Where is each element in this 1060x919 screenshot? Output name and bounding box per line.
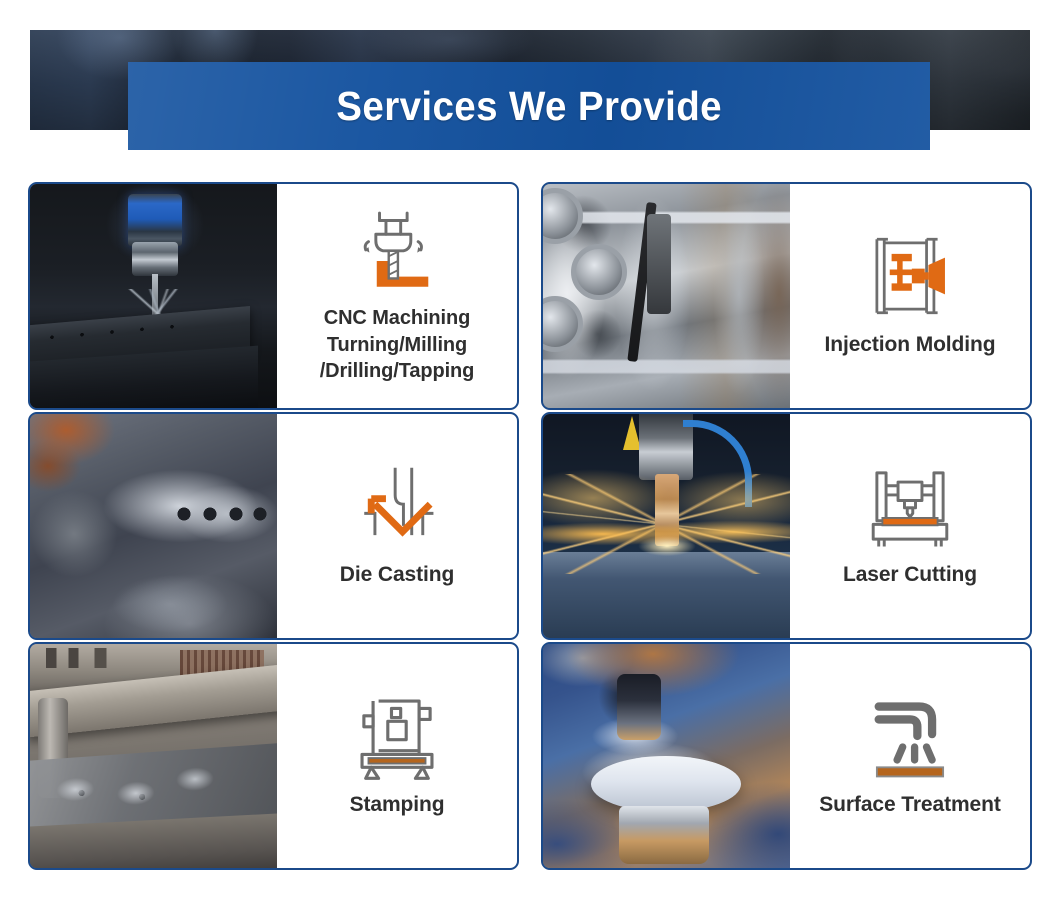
service-label-die-casting: Die Casting bbox=[340, 562, 454, 589]
service-photo-cnc-machining bbox=[30, 184, 277, 408]
service-card-surface-treatment[interactable]: Surface Treatment bbox=[541, 642, 1032, 870]
service-card-injection-molding[interactable]: Injection Molding bbox=[541, 182, 1032, 410]
service-card-die-casting[interactable]: Die Casting bbox=[28, 412, 519, 640]
service-card-cnc-machining[interactable]: CNC Machining Turning/Milling /Drilling/… bbox=[28, 182, 519, 410]
injection-mold-icon bbox=[864, 230, 956, 322]
service-label-surface-treatment: Surface Treatment bbox=[819, 792, 1001, 819]
service-photo-laser-cutting bbox=[543, 414, 790, 638]
service-photo-injection-molding bbox=[543, 184, 790, 408]
service-body-injection-molding: Injection Molding bbox=[790, 184, 1030, 408]
header-title-bar: Services We Provide bbox=[128, 62, 930, 150]
service-label-injection-molding: Injection Molding bbox=[825, 332, 996, 359]
die-casting-icon bbox=[351, 460, 443, 552]
service-body-laser-cutting: Laser Cutting bbox=[790, 414, 1030, 638]
page-header: Services We Provide bbox=[0, 0, 1060, 172]
service-card-laser-cutting[interactable]: Laser Cutting bbox=[541, 412, 1032, 640]
laser-cutting-machine-icon bbox=[864, 460, 956, 552]
service-body-stamping: Stamping bbox=[277, 644, 517, 868]
stamping-press-icon bbox=[351, 690, 443, 782]
service-label-cnc-machining: CNC Machining Turning/Milling /Drilling/… bbox=[320, 305, 475, 384]
service-photo-stamping bbox=[30, 644, 277, 868]
cnc-drill-icon bbox=[351, 203, 443, 295]
service-body-surface-treatment: Surface Treatment bbox=[790, 644, 1030, 868]
service-card-stamping[interactable]: Stamping bbox=[28, 642, 519, 870]
service-body-cnc-machining: CNC Machining Turning/Milling /Drilling/… bbox=[277, 184, 517, 408]
page-title: Services We Provide bbox=[336, 83, 722, 130]
service-label-laser-cutting: Laser Cutting bbox=[843, 562, 977, 589]
service-photo-surface-treatment bbox=[543, 644, 790, 868]
service-label-stamping: Stamping bbox=[350, 792, 445, 819]
services-grid: CNC Machining Turning/Milling /Drilling/… bbox=[28, 182, 1032, 870]
service-photo-die-casting bbox=[30, 414, 277, 638]
surface-treatment-spray-icon bbox=[864, 690, 956, 782]
service-body-die-casting: Die Casting bbox=[277, 414, 517, 638]
